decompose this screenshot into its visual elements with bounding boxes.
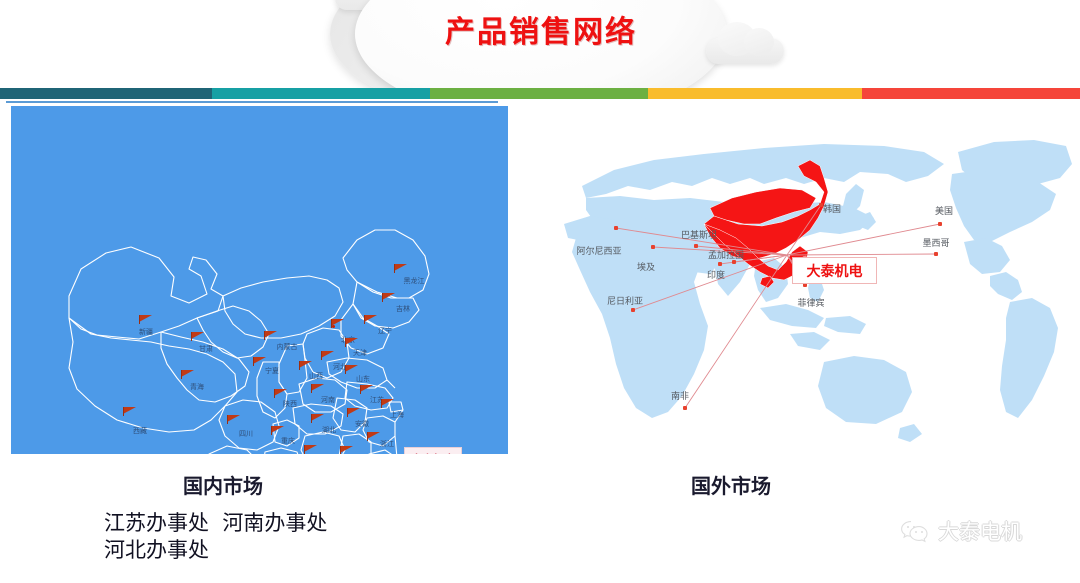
country-marker-dot <box>614 226 618 230</box>
office-list: 江苏办事处 河南办事处 河北办事处 <box>104 510 327 564</box>
country-label: 菲律宾 <box>797 300 824 309</box>
province-label: 河南 <box>321 397 335 404</box>
country-marker-dot <box>683 406 687 410</box>
capital-dot <box>332 325 335 328</box>
country-label: 南非 <box>671 393 689 402</box>
province-label: 宁夏 <box>265 368 279 375</box>
flag-marker-icon <box>367 432 380 439</box>
province-label: 山东 <box>356 376 370 383</box>
watermark-text: 大泰电机 <box>938 516 1022 546</box>
country-marker-dot <box>631 308 635 312</box>
flag-marker-icon <box>382 293 395 300</box>
country-label: 印度 <box>707 272 725 281</box>
china-map-panel: 新疆甘肃青海西藏内蒙古宁夏四川陕西山西河北北京天津山东河南江苏上海湖北安徽浙江重… <box>11 106 508 454</box>
company-tag-china: 大泰机电 <box>404 447 462 454</box>
flag-marker-icon <box>299 361 312 368</box>
province-label: 新疆 <box>139 329 153 336</box>
flag-marker-icon <box>181 370 194 377</box>
province-label: 陕西 <box>283 401 297 408</box>
world-map-graphic <box>524 112 1072 456</box>
province-label: 湖北 <box>322 427 336 434</box>
country-label: 巴基斯坦 <box>681 232 717 241</box>
province-label: 甘肃 <box>199 346 213 353</box>
province-label: 安徽 <box>355 421 369 428</box>
flag-marker-icon <box>123 407 136 414</box>
province-label: 辽宁 <box>378 328 392 335</box>
color-segment-dark-teal <box>0 88 212 99</box>
color-segment-red <box>862 88 1080 99</box>
color-segment-amber <box>648 88 862 99</box>
country-marker-dot <box>938 222 942 226</box>
flag-marker-icon <box>381 399 394 406</box>
country-marker-dot <box>694 244 698 248</box>
caption-domestic-market: 国内市场 <box>183 470 263 499</box>
office-line-2: 河北办事处 <box>104 537 327 564</box>
province-label: 吉林 <box>396 306 410 313</box>
world-map-panel: 阿尔尼西亚埃及尼日利亚南非巴基斯坦孟加拉国印度韩国菲律宾美国墨西哥 大泰机电 <box>524 112 1072 456</box>
flag-marker-icon <box>304 445 317 452</box>
country-label: 美国 <box>935 208 953 217</box>
province-label: 黑龙江 <box>404 278 425 285</box>
color-segment-green <box>430 88 648 99</box>
country-label: 阿尔尼西亚 <box>576 248 621 257</box>
wechat-icon <box>900 519 930 543</box>
province-label: 西藏 <box>133 428 147 435</box>
accent-color-bar <box>0 88 1080 99</box>
country-marker-dot <box>651 245 655 249</box>
color-segment-teal <box>212 88 430 99</box>
country-label: 孟加拉国 <box>708 252 744 261</box>
flag-marker-icon <box>311 384 324 391</box>
country-label: 韩国 <box>823 206 841 215</box>
flag-marker-icon <box>345 365 358 372</box>
flag-marker-icon <box>345 338 358 345</box>
flag-marker-icon <box>139 315 152 322</box>
country-marker-dot <box>732 260 736 264</box>
flag-marker-icon <box>274 389 287 396</box>
country-label: 埃及 <box>637 264 655 273</box>
country-marker-dot <box>718 262 722 266</box>
divider-rule <box>6 101 498 103</box>
caption-overseas-market: 国外市场 <box>691 470 771 499</box>
province-label: 重庆 <box>281 438 295 445</box>
country-label: 墨西哥 <box>922 240 949 249</box>
flag-marker-icon <box>394 264 407 271</box>
country-marker-dot <box>934 252 938 256</box>
flag-marker-icon <box>271 426 284 433</box>
province-label: 上海 <box>390 412 404 419</box>
flag-marker-icon <box>264 331 277 338</box>
flag-marker-icon <box>311 414 324 421</box>
flag-marker-icon <box>364 315 377 322</box>
province-label: 内蒙古 <box>277 344 298 351</box>
country-label: 尼日利亚 <box>607 298 643 307</box>
flag-marker-icon <box>191 332 204 339</box>
flag-marker-icon <box>340 446 353 453</box>
flag-marker-icon <box>253 357 266 364</box>
province-label: 山西 <box>309 373 323 380</box>
flag-marker-icon <box>347 408 360 415</box>
company-tag-world: 大泰机电 <box>792 257 877 284</box>
watermark: 大泰电机 <box>900 516 1022 546</box>
flag-marker-icon <box>360 385 373 392</box>
china-map-outline <box>11 106 508 454</box>
country-marker-dot <box>819 203 823 207</box>
slide-header: 产品销售网络 <box>0 0 1080 88</box>
province-label: 四川 <box>239 431 253 438</box>
office-line-1: 江苏办事处 河南办事处 <box>104 510 327 537</box>
flag-marker-icon <box>227 415 240 422</box>
flag-marker-icon <box>321 351 334 358</box>
province-label: 浙江 <box>380 441 394 448</box>
page-title: 产品销售网络 <box>355 7 727 51</box>
province-label: 青海 <box>190 384 204 391</box>
province-label: 天津 <box>353 350 367 357</box>
